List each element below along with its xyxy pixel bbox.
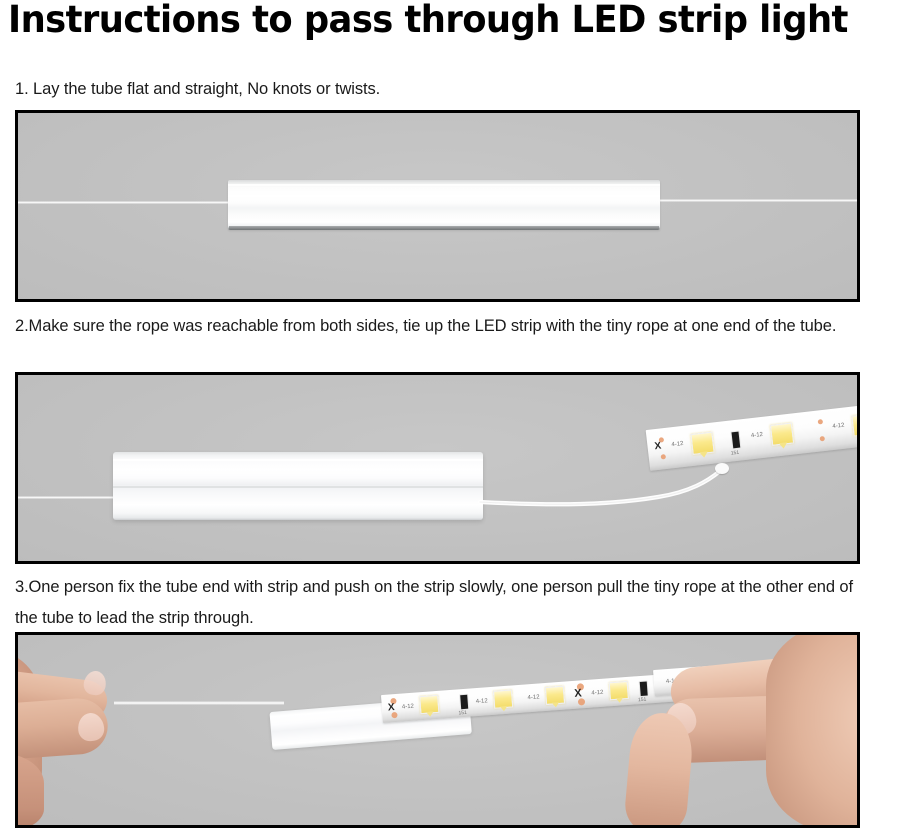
panel-step-1 — [15, 110, 860, 302]
left-hand — [15, 641, 132, 828]
resistor-label: 151 — [638, 698, 647, 704]
step-2-caption: 2.Make sure the rope was reachable from … — [15, 311, 873, 342]
step-3-caption: 3.One person fix the tube end with strip… — [15, 572, 873, 634]
chip-label: 4-12 — [476, 698, 488, 705]
solder-pad — [820, 436, 826, 442]
page-title: Instructions to pass through LED strip l… — [8, 0, 852, 42]
led-chip — [690, 432, 714, 455]
cut-mark-icon: X — [654, 442, 662, 453]
resistor — [459, 694, 469, 711]
cut-mark-icon: X — [388, 703, 395, 713]
rope-left-1 — [15, 201, 230, 204]
chip-label: 4-12 — [751, 432, 764, 439]
instruction-sheet: Instructions to pass through LED strip l… — [0, 0, 900, 831]
resistor-label: 151 — [458, 711, 467, 717]
rope-knot — [715, 463, 729, 474]
led-tube-1 — [228, 180, 660, 230]
step-1-caption: 1. Lay the tube flat and straight, No kn… — [15, 74, 885, 105]
resistor-label: 151 — [731, 451, 740, 457]
panel-step-2: X 4-12 151 4-12 4-12 — [15, 372, 860, 564]
led-chip — [770, 423, 794, 446]
panel-step-3: X 4-12 151 4-12 4-12 X 4-12 151 4-12 4-1… — [15, 632, 860, 828]
chip-label: 4-12 — [402, 704, 414, 711]
resistor — [730, 431, 741, 450]
chip-label: 4-12 — [671, 441, 684, 448]
solder-pad — [818, 419, 824, 425]
led-chip — [493, 689, 513, 708]
rope-left-2 — [15, 496, 115, 499]
cut-mark-icon: X — [574, 688, 582, 700]
chip-label: 4-12 — [591, 690, 603, 697]
led-chip — [609, 681, 629, 700]
right-hand-palm — [766, 632, 860, 828]
led-tube-2 — [113, 452, 483, 520]
led-chip — [545, 686, 565, 705]
chip-label: 4-12 — [527, 694, 539, 701]
rope-left-3 — [114, 701, 284, 705]
solder-pad — [661, 454, 667, 460]
rope-right-1 — [658, 199, 860, 202]
resistor — [639, 680, 649, 697]
led-chip — [419, 695, 439, 714]
chip-label: 4-12 — [832, 423, 845, 430]
right-hand — [680, 632, 860, 828]
led-chip — [851, 413, 860, 436]
